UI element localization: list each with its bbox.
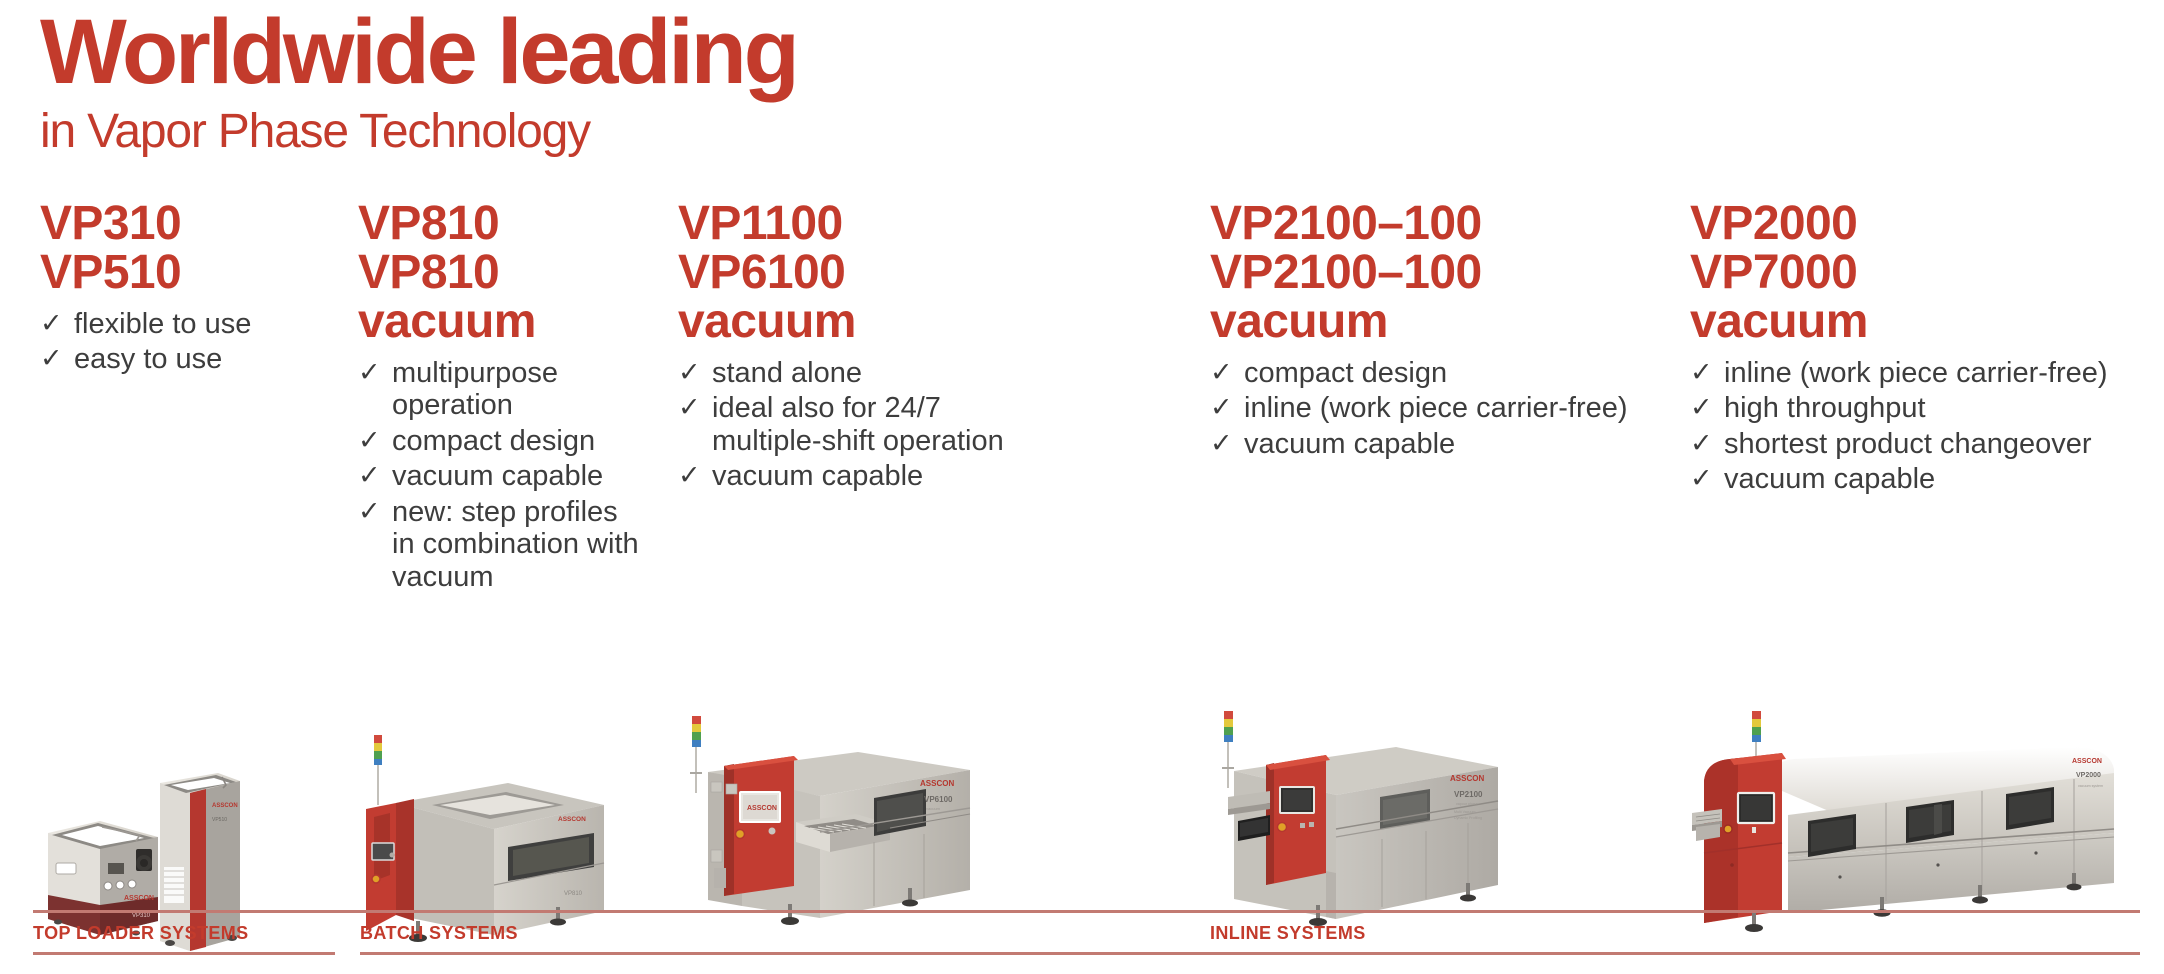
- model-heading: VP810 VP810 vacuum: [358, 200, 648, 347]
- model-name-primary: VP2100–100: [1210, 200, 1630, 249]
- feature-text: inline (work piece carrier-free): [1244, 392, 1628, 424]
- model-name-primary: VP2000: [1690, 200, 2120, 249]
- signal-tower-icon: [690, 716, 702, 793]
- model-name-secondary: VP2100–100: [1210, 249, 1630, 298]
- model-vacuum-tag: vacuum: [1690, 298, 2120, 347]
- list-item: ✓compact design: [1210, 357, 1630, 389]
- footer-rule-batch-inline: [360, 952, 2140, 955]
- svg-text:vapour phase: vapour phase: [1456, 802, 1478, 806]
- model-name-primary: VP310: [40, 200, 320, 249]
- svg-text:ASSCON: ASSCON: [212, 803, 238, 809]
- check-icon: ✓: [1210, 357, 1233, 387]
- svg-text:VP6100: VP6100: [924, 795, 953, 804]
- model-vacuum-tag: vacuum: [358, 298, 648, 347]
- check-icon: ✓: [1210, 428, 1233, 458]
- feature-text: vacuum capable: [1724, 463, 1935, 495]
- feature-text: vacuum capable: [392, 460, 603, 492]
- list-item: ✓inline (work piece carrier-free): [1690, 357, 2120, 389]
- svg-text:ASSCON: ASSCON: [920, 779, 954, 788]
- svg-text:vacuum: vacuum: [926, 806, 941, 811]
- list-item: ✓vacuum capable: [678, 460, 1028, 492]
- model-vacuum-tag: vacuum: [1210, 298, 1630, 347]
- feature-text: new: step profiles in combination with v…: [392, 496, 639, 593]
- feature-text: high throughput: [1724, 392, 1926, 424]
- list-item: ✓high throughput: [1690, 392, 2120, 424]
- feature-list: ✓stand alone ✓ideal also for 24/7 multip…: [678, 357, 1028, 493]
- list-item: ✓compact design: [358, 425, 648, 457]
- check-icon: ✓: [1690, 392, 1713, 422]
- svg-text:ASSCON: ASSCON: [1450, 774, 1484, 783]
- feature-list: ✓multipurpose operation ✓compact design …: [358, 357, 648, 593]
- page-header: Worldwide leading in Vapor Phase Technol…: [40, 8, 1240, 156]
- feature-text: inline (work piece carrier-free): [1724, 357, 2108, 389]
- feature-text: multipurpose operation: [392, 357, 558, 421]
- signal-tower-icon: [1222, 711, 1234, 788]
- footer-rule-top: [33, 910, 2140, 913]
- svg-text:ASSCON: ASSCON: [747, 805, 777, 812]
- svg-text:VP2000: VP2000: [2076, 772, 2101, 779]
- feature-list: ✓compact design ✓inline (work piece carr…: [1210, 357, 1630, 460]
- list-item: ✓easy to use: [40, 343, 320, 375]
- feature-text: ideal also for 24/7 multiple-shift opera…: [712, 392, 1004, 456]
- feature-text: shortest product changeover: [1724, 428, 2092, 460]
- list-item: ✓shortest product changeover: [1690, 428, 2120, 460]
- model-heading: VP2000 VP7000 vacuum: [1690, 200, 2120, 347]
- model-heading: VP1100 VP6100 vacuum: [678, 200, 1028, 347]
- svg-text:ASSCON: ASSCON: [2072, 758, 2102, 765]
- product-column-vp310: VP310 VP510 ✓flexible to use ✓easy to us…: [40, 200, 320, 379]
- check-icon: ✓: [358, 496, 381, 526]
- product-column-vp1100: VP1100 VP6100 vacuum ✓stand alone ✓ideal…: [678, 200, 1028, 496]
- model-name-secondary: VP510: [40, 249, 320, 298]
- svg-text:VP810: VP810: [564, 891, 583, 897]
- product-column-vp2000: VP2000 VP7000 vacuum ✓inline (work piece…: [1690, 200, 2120, 499]
- check-icon: ✓: [358, 460, 381, 490]
- list-item: ✓ideal also for 24/7 multiple-shift oper…: [678, 392, 1028, 457]
- list-item: ✓new: step profiles in combination with …: [358, 496, 648, 593]
- svg-text:Multi Vacuum: Multi Vacuum: [1454, 810, 1476, 814]
- svg-text:Dynamic Profiling: Dynamic Profiling: [1454, 816, 1482, 820]
- check-icon: ✓: [40, 343, 63, 373]
- check-icon: ✓: [1690, 463, 1713, 493]
- svg-text:vacuum system: vacuum system: [2078, 784, 2103, 788]
- page-title: Worldwide leading: [40, 8, 1240, 96]
- model-name-primary: VP810: [358, 200, 648, 249]
- list-item: ✓vacuum capable: [1690, 463, 2120, 495]
- model-heading: VP2100–100 VP2100–100 vacuum: [1210, 200, 1630, 347]
- feature-list: ✓flexible to use ✓easy to use: [40, 308, 320, 376]
- svg-text:VP510: VP510: [212, 817, 227, 823]
- feature-text: stand alone: [712, 357, 862, 389]
- svg-text:VP2100: VP2100: [1454, 790, 1483, 799]
- feature-text: compact design: [392, 425, 595, 457]
- feature-text: flexible to use: [74, 308, 251, 340]
- list-item: ✓stand alone: [678, 357, 1028, 389]
- feature-text: compact design: [1244, 357, 1447, 389]
- list-item: ✓flexible to use: [40, 308, 320, 340]
- page-subtitle: in Vapor Phase Technology: [40, 108, 1240, 156]
- list-item: ✓vacuum capable: [1210, 428, 1630, 460]
- category-footer: TOP LOADER SYSTEMS BATCH SYSTEMS INLINE …: [0, 900, 2164, 974]
- model-name-secondary: VP7000: [1690, 249, 2120, 298]
- feature-text: easy to use: [74, 343, 222, 375]
- feature-list: ✓inline (work piece carrier-free) ✓high …: [1690, 357, 2120, 496]
- check-icon: ✓: [358, 425, 381, 455]
- model-heading: VP310 VP510: [40, 200, 320, 298]
- product-column-vp810: VP810 VP810 vacuum ✓multipurpose operati…: [358, 200, 648, 596]
- check-icon: ✓: [678, 392, 701, 422]
- list-item: ✓inline (work piece carrier-free): [1210, 392, 1630, 424]
- check-icon: ✓: [1210, 392, 1233, 422]
- check-icon: ✓: [1690, 428, 1713, 458]
- check-icon: ✓: [40, 308, 63, 338]
- check-icon: ✓: [678, 357, 701, 387]
- category-label-top-loader: TOP LOADER SYSTEMS: [33, 923, 249, 944]
- feature-text: vacuum capable: [1244, 428, 1455, 460]
- model-vacuum-tag: vacuum: [678, 298, 1028, 347]
- svg-text:ASSCON: ASSCON: [558, 816, 586, 823]
- footer-rule-top-loader: [33, 952, 335, 955]
- product-column-vp2100: VP2100–100 VP2100–100 vacuum ✓compact de…: [1210, 200, 1630, 463]
- model-name-primary: VP1100: [678, 200, 1028, 249]
- list-item: ✓multipurpose operation: [358, 357, 648, 422]
- category-label-inline: INLINE SYSTEMS: [1210, 923, 1366, 944]
- list-item: ✓vacuum capable: [358, 460, 648, 492]
- check-icon: ✓: [1690, 357, 1713, 387]
- model-name-secondary: VP6100: [678, 249, 1028, 298]
- feature-text: vacuum capable: [712, 460, 923, 492]
- check-icon: ✓: [678, 460, 701, 490]
- category-label-batch: BATCH SYSTEMS: [360, 923, 518, 944]
- signal-tower-icon: [374, 735, 382, 805]
- check-icon: ✓: [358, 357, 381, 387]
- model-name-secondary: VP810: [358, 249, 648, 298]
